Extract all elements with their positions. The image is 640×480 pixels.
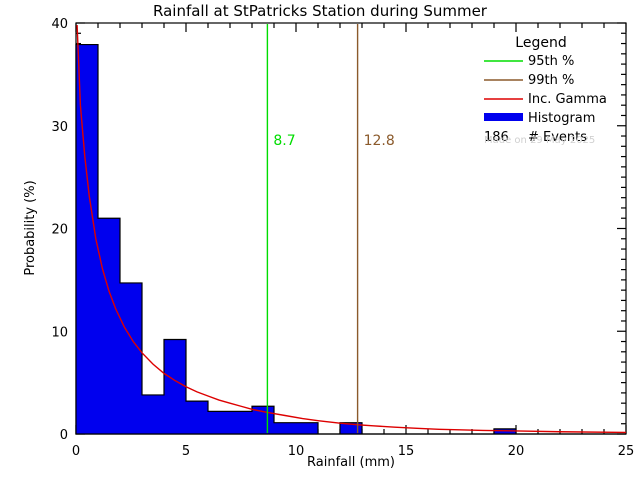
- y-tick-label: 40: [51, 17, 68, 32]
- x-tick-label: 25: [618, 444, 635, 459]
- rainfall-histogram-plot: 8.712.8 0510152025 010203040 Rainfall (m…: [0, 0, 640, 480]
- x-tick-label: 15: [398, 444, 415, 459]
- legend-item-label: Inc. Gamma: [528, 92, 607, 107]
- y-tick-labels: 010203040: [51, 17, 68, 443]
- percentile-value-label: 8.7: [273, 133, 295, 149]
- x-tick-label: 10: [288, 444, 305, 459]
- legend-item-label: 95th %: [528, 54, 574, 69]
- y-tick-label: 30: [51, 120, 68, 135]
- legend-item-label: Histogram: [528, 111, 595, 126]
- chart-root: Rainfall at StPatricks Station during Su…: [0, 0, 640, 480]
- x-tick-label: 20: [508, 444, 525, 459]
- legend-stamp: Made on 29 May 2025: [484, 135, 595, 146]
- legend-item-label: 99th %: [528, 73, 574, 88]
- y-tick-label: 10: [51, 325, 68, 340]
- y-axis-label: Probability (%): [23, 180, 38, 275]
- x-axis-label: Rainfall (mm): [307, 455, 395, 470]
- x-tick-label: 0: [72, 444, 80, 459]
- y-tick-label: 20: [51, 223, 68, 238]
- percentile-value-label: 12.8: [364, 133, 395, 149]
- legend-title: Legend: [515, 35, 566, 51]
- x-tick-label: 5: [182, 444, 190, 459]
- y-tick-label: 0: [60, 428, 68, 443]
